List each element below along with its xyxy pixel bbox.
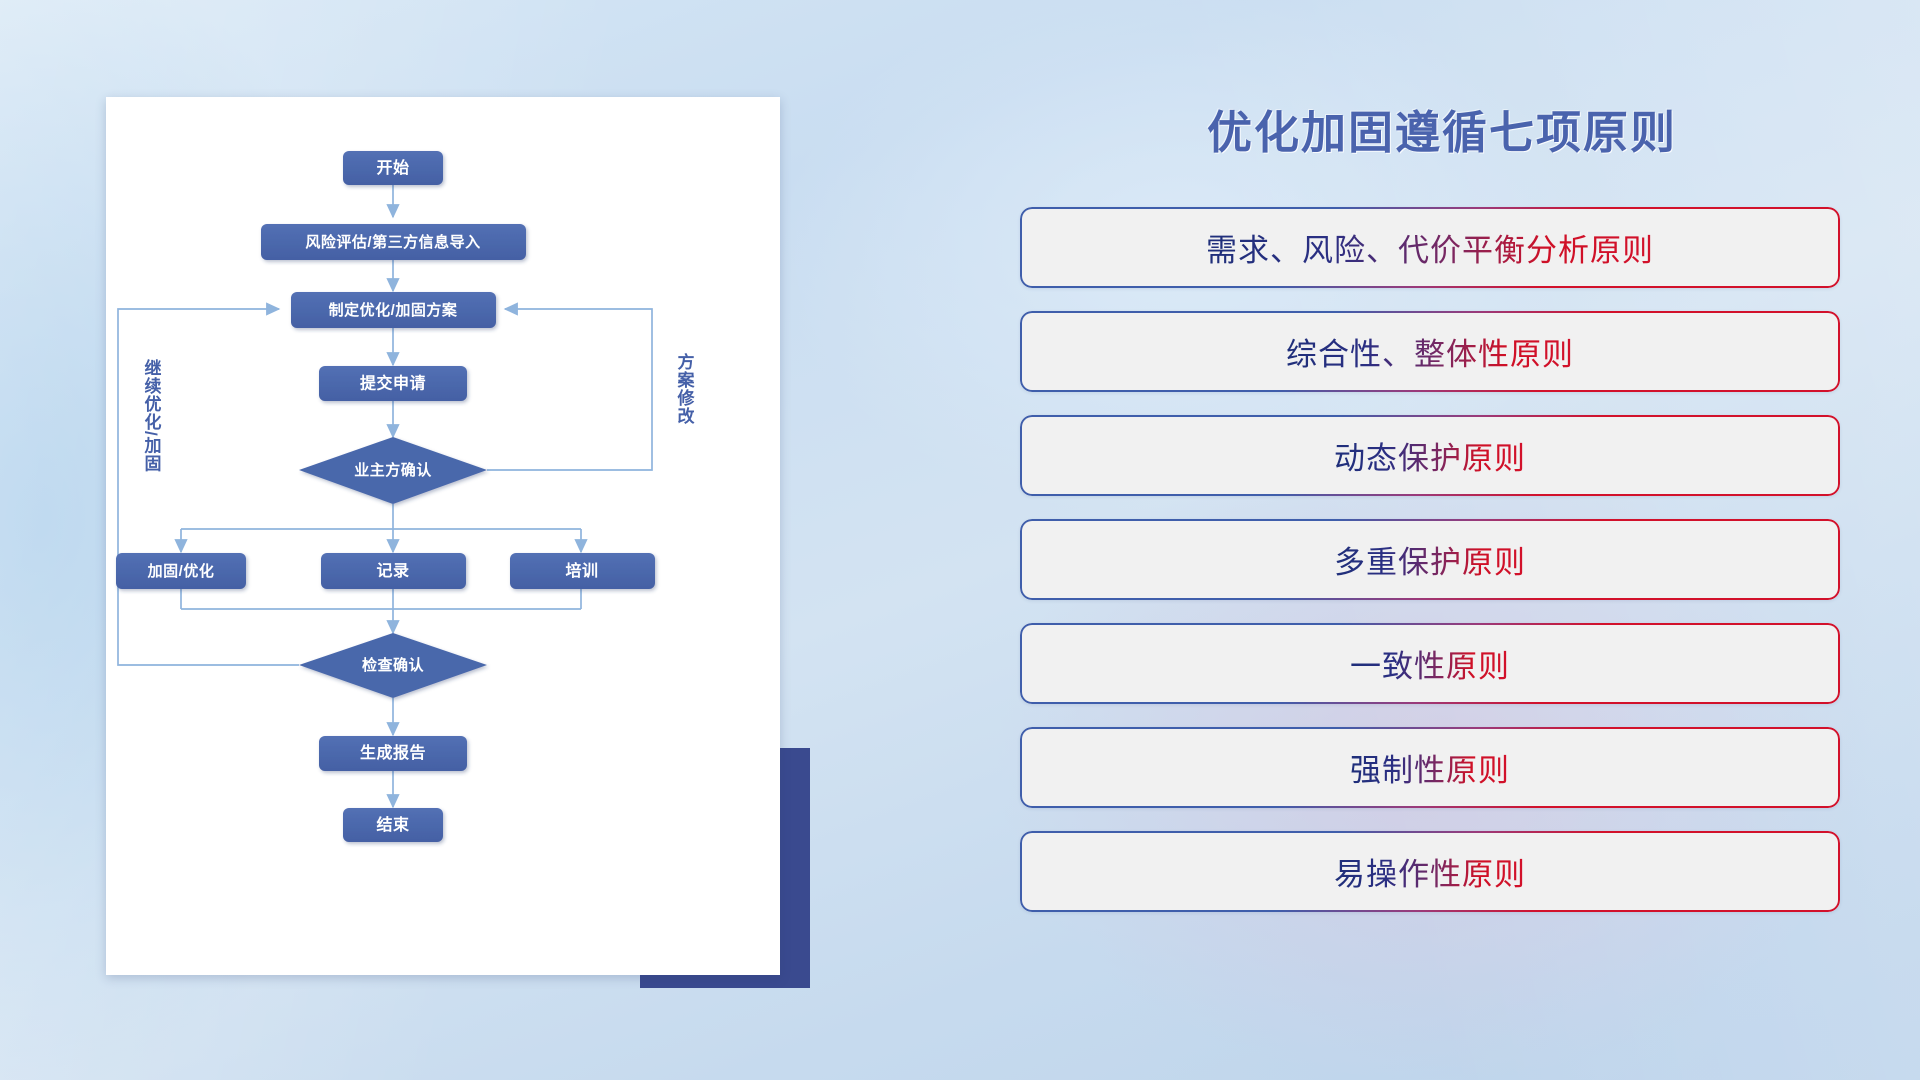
flow-node-reinforce-label: 加固/优化 — [147, 562, 215, 580]
flow-node-start[interactable]: 开始 — [343, 151, 443, 185]
principles-title: 优化加固遵循七项原则 — [1020, 96, 1840, 161]
principle-card-1[interactable]: 需求、风险、代价平衡分析原则 — [1020, 207, 1840, 288]
principle-card-4-label: 多重保护原则 — [1334, 537, 1526, 582]
flow-node-training-label: 培训 — [565, 561, 598, 580]
principles-card-list: 需求、风险、代价平衡分析原则 综合性、整体性原则 动态保护原则 多重保护原则 一… — [1020, 207, 1840, 912]
flow-node-plan-label: 制定优化/加固方案 — [329, 301, 458, 319]
flow-node-check-confirm-label: 检查确认 — [362, 656, 425, 674]
flowchart-diagram: 继续优化/加固 方案修改 开始 风险评估/第三方信息导入 制定优化/加固方案 提… — [106, 97, 780, 975]
flow-node-submit-label: 提交申请 — [360, 374, 426, 393]
principle-card-2-label: 综合性、整体性原则 — [1286, 329, 1574, 374]
flow-node-report[interactable]: 生成报告 — [319, 736, 467, 771]
flow-node-start-label: 开始 — [376, 158, 409, 177]
principle-card-2[interactable]: 综合性、整体性原则 — [1020, 311, 1840, 392]
flow-node-plan[interactable]: 制定优化/加固方案 — [291, 292, 496, 328]
flow-node-reinforce[interactable]: 加固/优化 — [116, 553, 246, 589]
flow-node-record[interactable]: 记录 — [321, 553, 466, 589]
principle-card-5-label: 一致性原则 — [1350, 641, 1510, 686]
principle-card-6-label: 强制性原则 — [1350, 745, 1510, 790]
flow-node-record-label: 记录 — [376, 562, 409, 580]
flow-node-training[interactable]: 培训 — [510, 553, 655, 589]
principle-card-1-label: 需求、风险、代价平衡分析原则 — [1206, 225, 1654, 270]
principle-card-3-label: 动态保护原则 — [1334, 433, 1526, 478]
flow-side-label-left: 继续优化/加固 — [142, 358, 163, 473]
principle-card-7[interactable]: 易操作性原则 — [1020, 831, 1840, 912]
principle-card-5[interactable]: 一致性原则 — [1020, 623, 1840, 704]
flow-side-label-right: 方案修改 — [675, 352, 696, 425]
flow-node-risk-assessment[interactable]: 风险评估/第三方信息导入 — [261, 224, 526, 260]
flow-node-owner-confirm-label: 业主方确认 — [354, 461, 432, 479]
flow-node-risk-assessment-label: 风险评估/第三方信息导入 — [305, 233, 480, 251]
principles-panel: 优化加固遵循七项原则 需求、风险、代价平衡分析原则 综合性、整体性原则 动态保护… — [1020, 96, 1840, 1016]
flow-node-end-label: 结束 — [375, 815, 410, 834]
principle-card-6[interactable]: 强制性原则 — [1020, 727, 1840, 808]
flow-node-check-confirm[interactable]: 检查确认 — [299, 633, 487, 698]
principle-card-3[interactable]: 动态保护原则 — [1020, 415, 1840, 496]
flow-node-submit[interactable]: 提交申请 — [319, 366, 467, 401]
flowchart-card: 继续优化/加固 方案修改 开始 风险评估/第三方信息导入 制定优化/加固方案 提… — [106, 97, 780, 975]
flow-node-end[interactable]: 结束 — [343, 808, 443, 842]
flow-node-owner-confirm[interactable]: 业主方确认 — [299, 437, 487, 504]
principle-card-7-label: 易操作性原则 — [1334, 849, 1526, 894]
flow-node-report-label: 生成报告 — [360, 743, 426, 762]
principle-card-4[interactable]: 多重保护原则 — [1020, 519, 1840, 600]
